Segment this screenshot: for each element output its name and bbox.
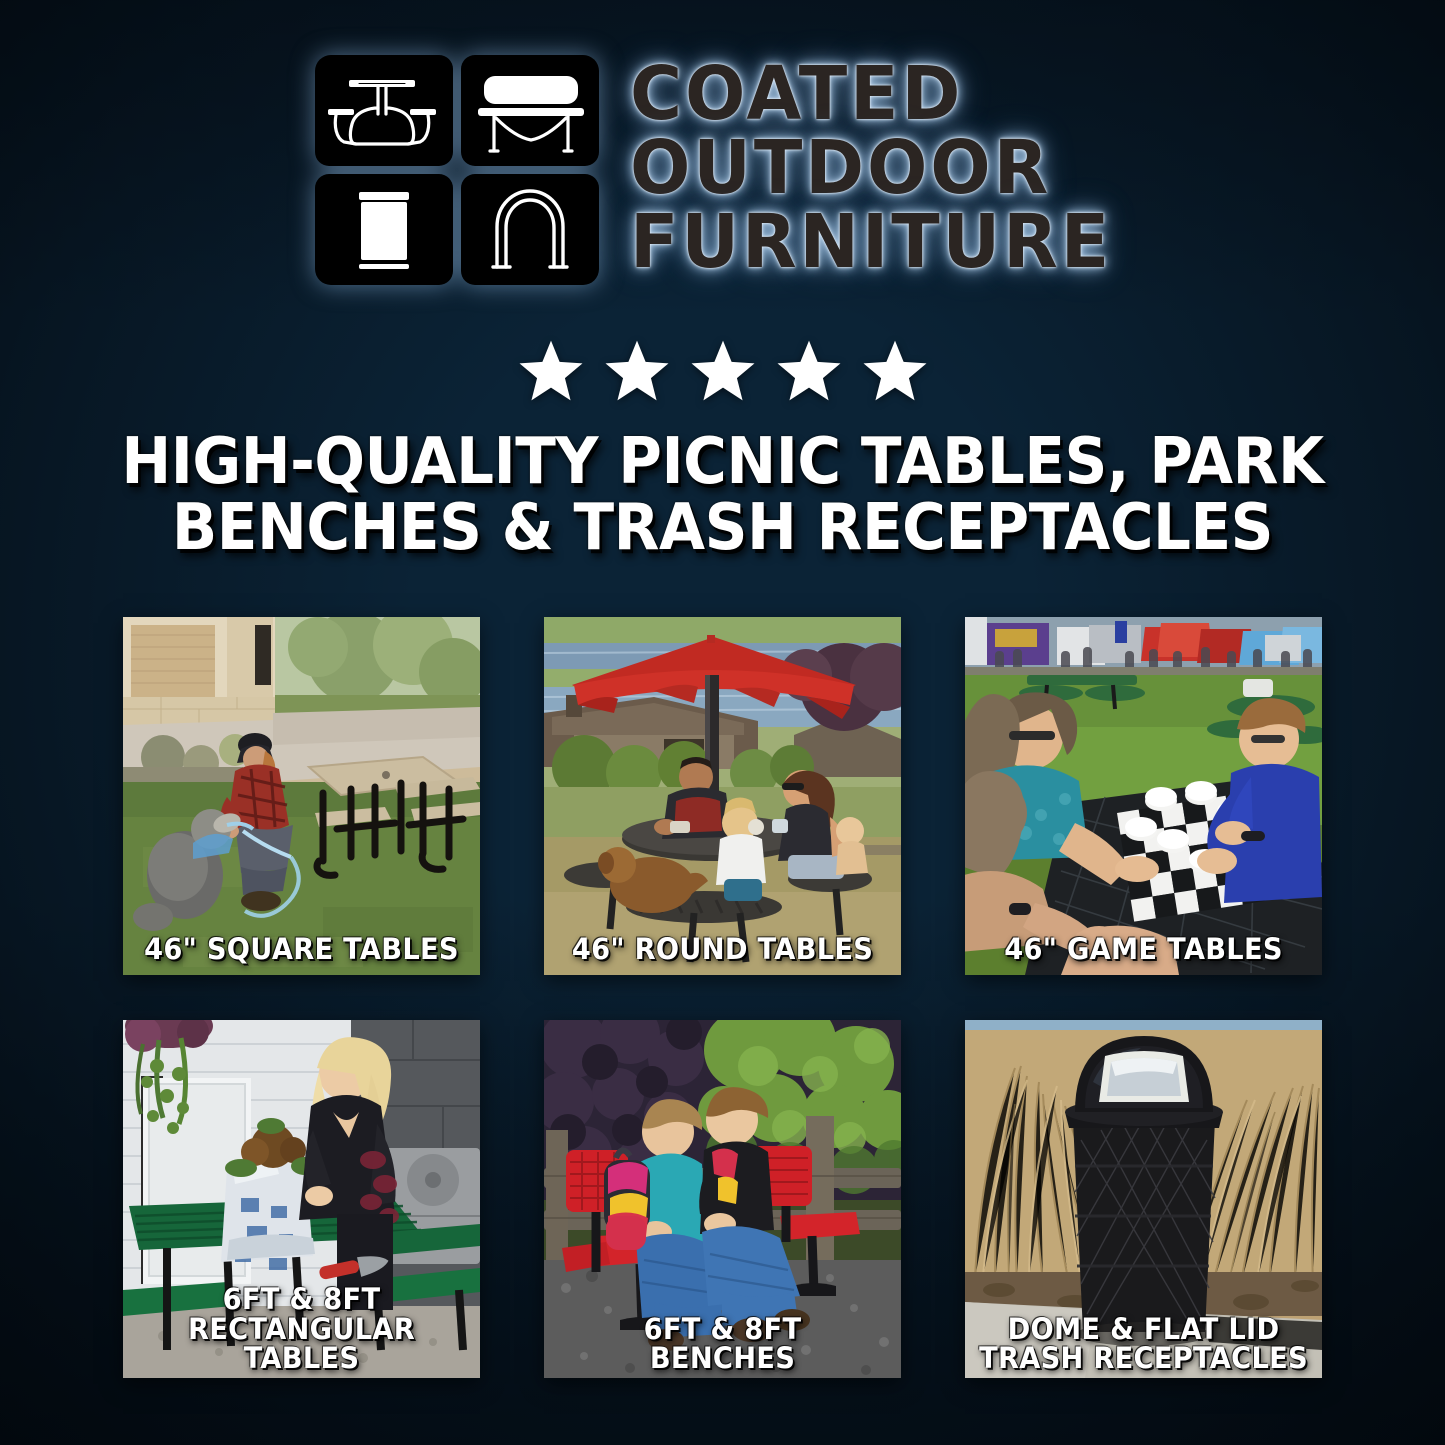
- star-rating: [0, 336, 1445, 406]
- star-icon: [859, 336, 931, 406]
- promo-poster: COATED OUTDOOR FURNITURE HIGH-QUALITY PI…: [0, 0, 1445, 1445]
- star-icon: [515, 336, 587, 406]
- page-headline: HIGH-QUALITY PICNIC TABLES, PARK BENCHES…: [116, 430, 1330, 562]
- headline-line-2: BENCHES & TRASH RECEPTACLES: [116, 496, 1330, 562]
- star-icon: [773, 336, 845, 406]
- product-photo-rect-table: [123, 1020, 480, 1378]
- product-tile-round-tables[interactable]: 46" ROUND TABLES: [544, 617, 901, 975]
- product-photo-bench: [544, 1020, 901, 1378]
- product-photo-trash-can: [965, 1020, 1322, 1378]
- brand-line-1: COATED: [630, 59, 1112, 130]
- product-photo-game-table: [965, 617, 1322, 975]
- product-tile-benches[interactable]: 6FT & 8FT BENCHES: [544, 1020, 901, 1378]
- product-tile-game-tables[interactable]: 46" GAME TABLES: [965, 617, 1322, 975]
- brand-line-3: FURNITURE: [630, 207, 1112, 278]
- product-tile-trash-receptacles[interactable]: DOME & FLAT LID TRASH RECEPTACLES: [965, 1020, 1322, 1378]
- star-icon: [601, 336, 673, 406]
- product-photo-square-table: [123, 617, 480, 975]
- product-photo-grid: 46" SQUARE TABLES: [123, 617, 1322, 1378]
- star-icon: [687, 336, 759, 406]
- park-bench-icon: [478, 76, 584, 151]
- brand-line-2: OUTDOOR: [630, 133, 1112, 204]
- product-tile-rectangular-tables[interactable]: 6FT & 8FT RECTANGULAR TABLES: [123, 1020, 480, 1378]
- product-tile-square-tables[interactable]: 46" SQUARE TABLES: [123, 617, 480, 975]
- brand-header: COATED OUTDOOR FURNITURE: [0, 52, 1445, 288]
- furniture-quad-logo-icon: [312, 52, 602, 288]
- headline-line-1: HIGH-QUALITY PICNIC TABLES, PARK: [116, 430, 1330, 496]
- product-photo-round-table: [544, 617, 901, 975]
- brand-wordmark: COATED OUTDOOR FURNITURE: [630, 59, 1132, 281]
- trash-receptacle-icon: [359, 192, 409, 269]
